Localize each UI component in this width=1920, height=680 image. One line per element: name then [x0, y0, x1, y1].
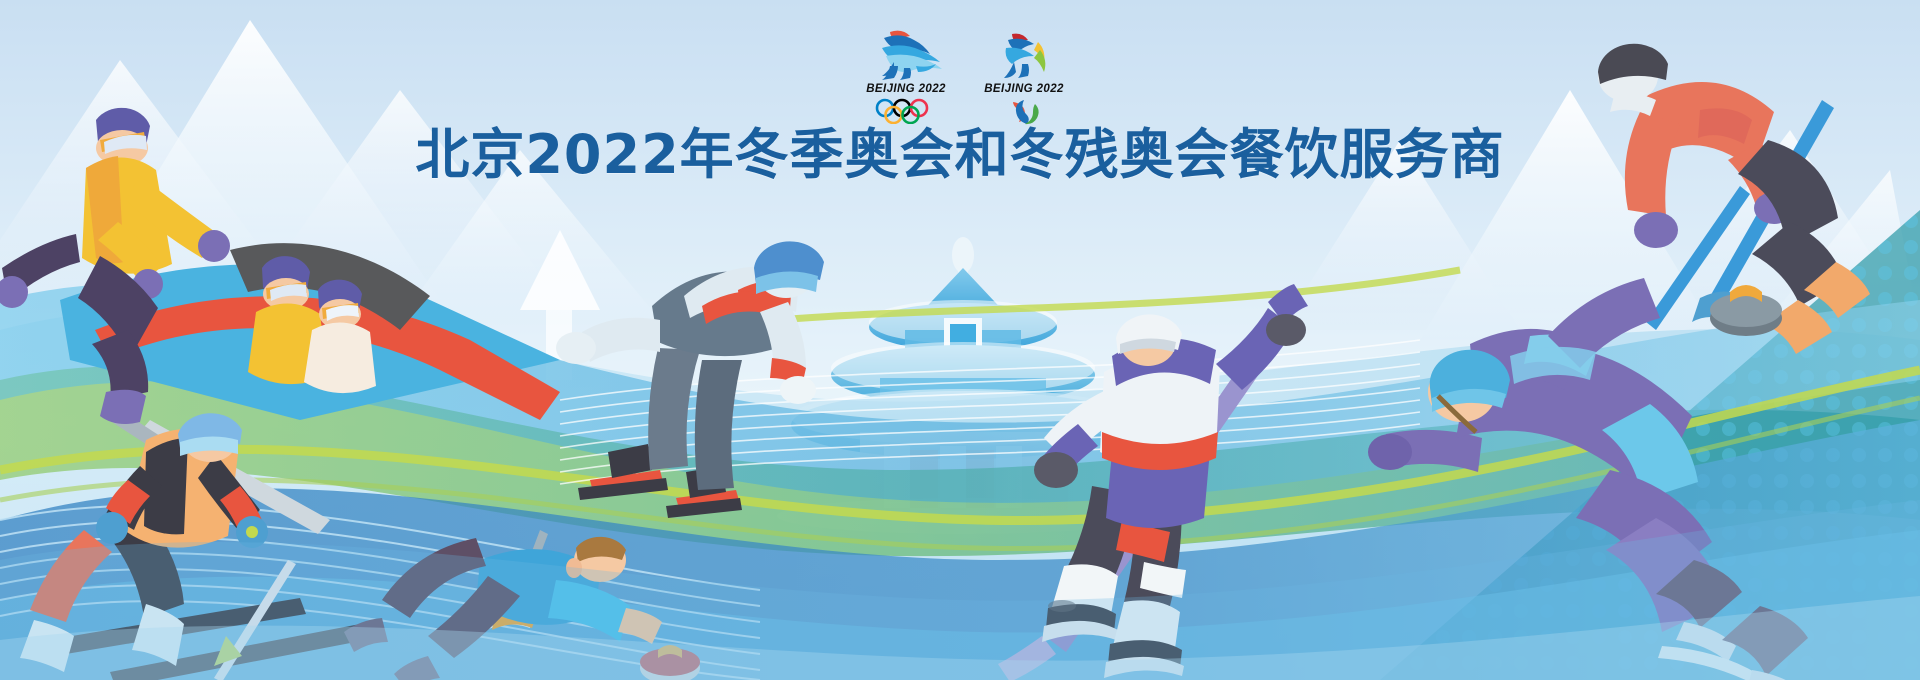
olympic-wordmark: BEIJING 2022: [866, 83, 946, 96]
flying-emblem-icon: [978, 26, 1070, 82]
winter-dream-emblem-icon: [860, 26, 952, 82]
olympic-banner: BEIJING 2022 BEIJIN: [0, 0, 1920, 680]
paralympic-agitos-icon: [1001, 99, 1047, 125]
beijing-2022-paralympic-emblem: BEIJING 2022: [978, 26, 1070, 125]
page-title: 北京2022年冬季奥会和冬残奥会餐饮服务商: [0, 124, 1920, 186]
paralympic-wordmark: BEIJING 2022: [984, 83, 1064, 96]
beijing-2022-olympic-emblem: BEIJING 2022: [860, 26, 952, 124]
olympic-rings-icon: [873, 98, 939, 124]
emblem-group: BEIJING 2022 BEIJIN: [860, 26, 1070, 126]
